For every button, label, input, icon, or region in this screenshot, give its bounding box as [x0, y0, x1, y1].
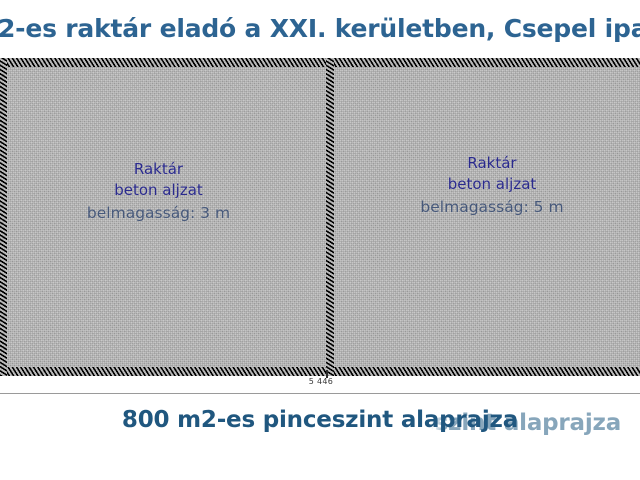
caption-text: 800 m2-es pinceszint alaprajza — [122, 407, 518, 433]
headline-text: m2-es raktár eladó a XXI. kerületben, Cs… — [0, 14, 640, 43]
room-right-floor: beton aljzat — [334, 174, 640, 195]
room-right-label: Raktár beton aljzat belmagasság: 5 m — [334, 153, 640, 218]
room-left-name: Raktár — [0, 159, 318, 180]
floorplan-drawing: Raktár beton aljzat belmagasság: 3 m Rak… — [0, 58, 640, 376]
room-right-name: Raktár — [334, 153, 640, 174]
dimension-line-group: 5 446 — [0, 376, 640, 398]
room-right-height: belmagasság: 5 m — [334, 196, 640, 218]
floorplan-caption: 800 m2-es pinceszint alaprajza — [0, 400, 640, 440]
wall-divider — [326, 58, 334, 376]
room-warehouse-left: Raktár beton aljzat belmagasság: 3 m — [7, 67, 326, 367]
room-warehouse-right: Raktár beton aljzat belmagasság: 5 m — [334, 67, 640, 367]
wall-top — [0, 58, 640, 67]
dimension-line — [0, 393, 640, 394]
floorplan-page: m2-es raktár eladó a XXI. kerületben, Cs… — [0, 0, 640, 480]
dimension-value: 5 446 — [0, 377, 640, 386]
room-left-height: belmagasság: 3 m — [0, 202, 318, 224]
wall-left — [0, 58, 7, 376]
wall-bottom — [0, 367, 640, 376]
room-left-floor: beton aljzat — [0, 180, 318, 201]
room-left-label: Raktár beton aljzat belmagasság: 3 m — [0, 159, 318, 224]
listing-headline: m2-es raktár eladó a XXI. kerületben, Cs… — [0, 0, 640, 56]
